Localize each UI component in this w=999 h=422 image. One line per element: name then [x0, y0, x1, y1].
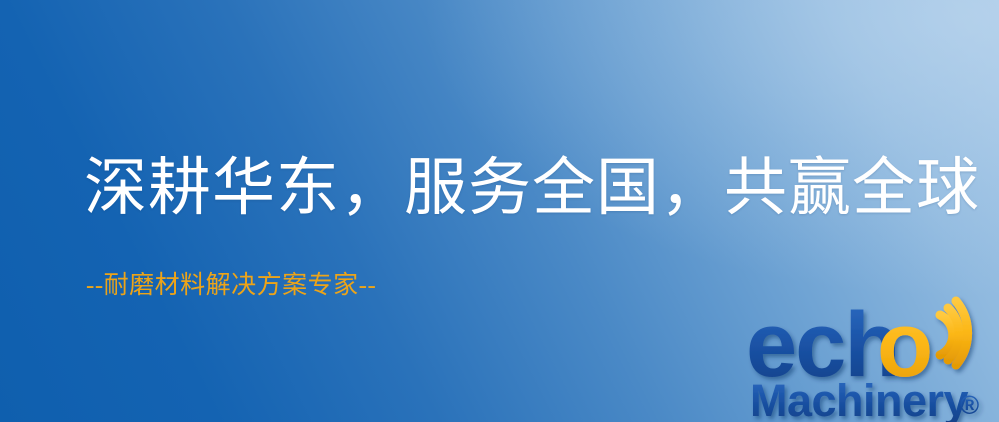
echo-machinery-logo[interactable]: ech o Machinery ®	[748, 296, 999, 422]
logo-tagline-machinery: Machinery	[750, 375, 969, 422]
signal-arcs-icon	[940, 301, 968, 365]
banner-subtitle: --耐磨材料解决方案专家--	[86, 265, 376, 301]
hero-banner: 深耕华东，服务全国，共赢全球 --耐磨材料解决方案专家--	[0, 0, 999, 422]
registered-trademark-icon: ®	[960, 390, 979, 420]
banner-headline: 深耕华东，服务全国，共赢全球	[84, 155, 980, 221]
